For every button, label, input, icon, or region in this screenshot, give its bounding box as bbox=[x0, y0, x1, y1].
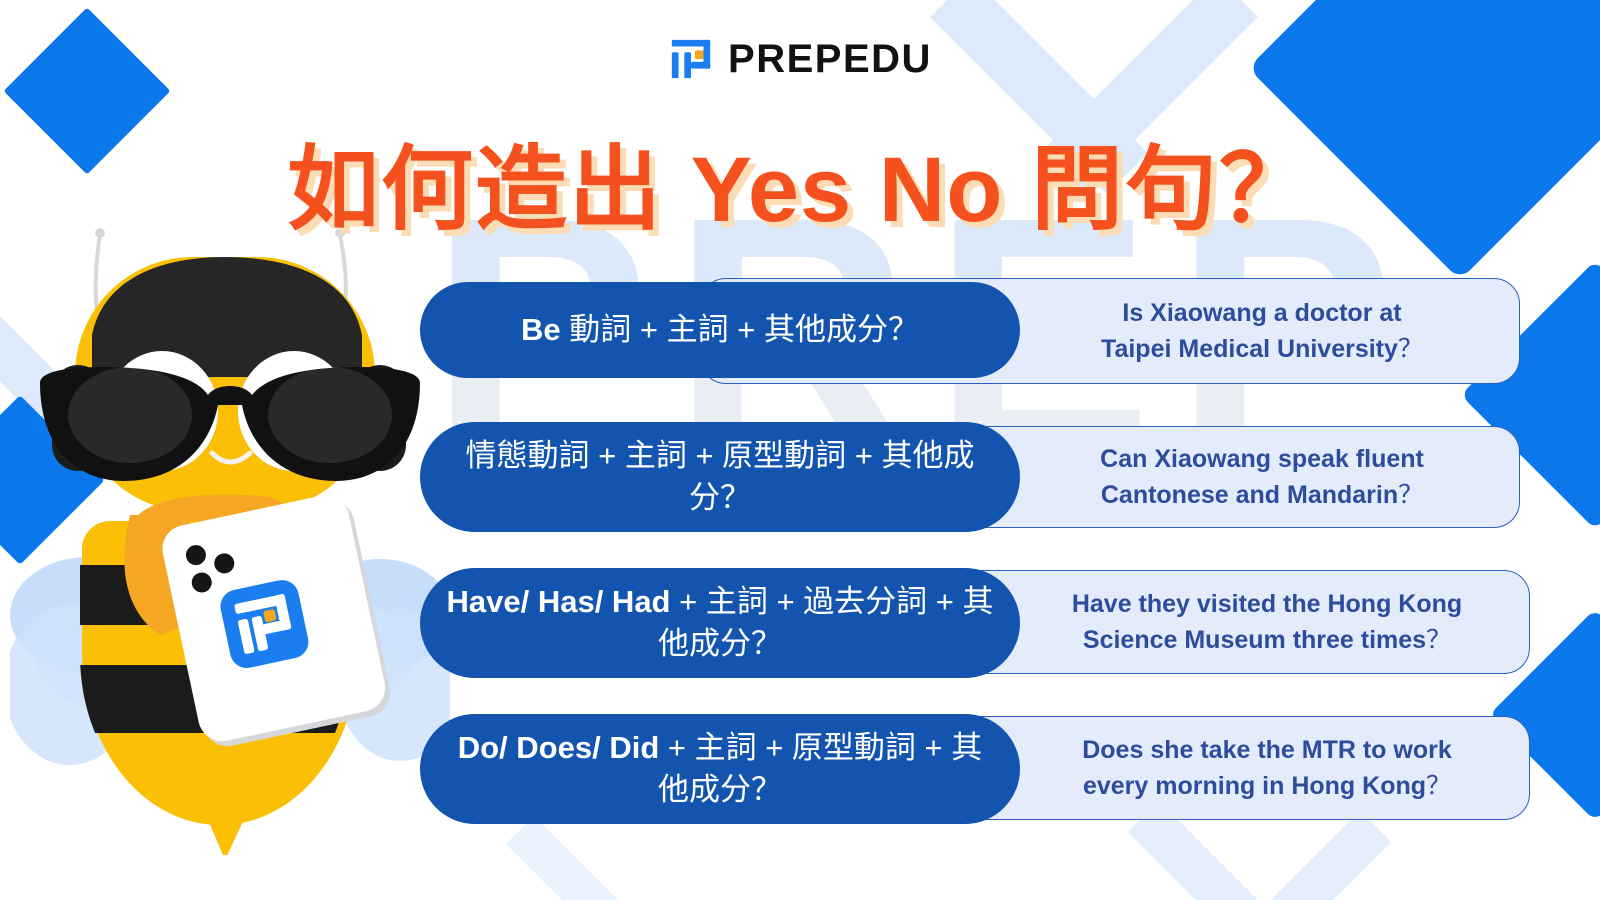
formula-text-1: Be 動詞 + 主詞 + 其他成分？ bbox=[446, 309, 994, 351]
structure-rows: Is Xiaowang a doctor at Taipei Medical U… bbox=[0, 270, 1600, 854]
answer-line-2a: Can Xiaowang speak fluent bbox=[1100, 445, 1424, 473]
answer-line-3b: Science Museum three times bbox=[1083, 626, 1426, 654]
row-do-does-did: Does she take the MTR to work every morn… bbox=[0, 708, 1600, 854]
prepedu-logo-icon bbox=[668, 36, 714, 82]
answer-line-2b: Cantonese and Mandarin bbox=[1101, 481, 1398, 509]
title-part-1: 如何造出 bbox=[287, 139, 691, 241]
brand-header: PREPEDU bbox=[0, 36, 1600, 82]
answer-question-mark-3: ？ bbox=[1426, 626, 1451, 654]
answer-question-mark-2: ？ bbox=[1398, 481, 1423, 509]
formula-keyword-1: Be bbox=[521, 312, 561, 347]
answer-text-1: Is Xiaowang a doctor at Taipei Medical U… bbox=[1031, 295, 1493, 368]
title-english: Yes No bbox=[691, 139, 1004, 241]
formula-rest-4: + 主詞 + 原型動詞 + 其他成分？ bbox=[658, 730, 982, 807]
answer-question-mark-1: ？ bbox=[1398, 335, 1423, 363]
formula-pill-2: 情態動詞 + 主詞 + 原型動詞 + 其他成分？ bbox=[420, 422, 1020, 532]
formula-rest-2: 情態動詞 + 主詞 + 原型動詞 + 其他成分？ bbox=[466, 438, 975, 515]
row-have-has-had: Have they visited the Hong Kong Science … bbox=[0, 562, 1600, 708]
answer-line-1b: Taipei Medical University bbox=[1101, 335, 1398, 363]
answer-line-4a: Does she take the MTR to work bbox=[1082, 736, 1452, 764]
formula-rest-1: 動詞 + 主詞 + 其他成分？ bbox=[561, 312, 919, 347]
answer-line-1a: Is Xiaowang a doctor at bbox=[1122, 299, 1401, 327]
brand-name: PREPEDU bbox=[728, 37, 932, 82]
answer-line-4b: every morning in Hong Kong bbox=[1083, 772, 1426, 800]
formula-keyword-4: Do/ Does/ Did bbox=[458, 730, 660, 765]
formula-pill-1: Be 動詞 + 主詞 + 其他成分？ bbox=[420, 282, 1020, 378]
formula-text-2: 情態動詞 + 主詞 + 原型動詞 + 其他成分？ bbox=[446, 435, 994, 519]
answer-line-3a: Have they visited the Hong Kong bbox=[1072, 590, 1462, 618]
title-part-2: 問句？ bbox=[1003, 139, 1313, 241]
page-title: 如何造出 Yes No 問句？ bbox=[0, 115, 1600, 248]
answer-text-2: Can Xiaowang speak fluent Cantonese and … bbox=[1031, 441, 1493, 514]
answer-text-3: Have they visited the Hong Kong Science … bbox=[1031, 586, 1503, 659]
row-be-verb: Is Xiaowang a doctor at Taipei Medical U… bbox=[0, 270, 1600, 416]
answer-question-mark-4: ？ bbox=[1426, 772, 1451, 800]
poster-canvas: PREP PREP PREPEDU 如何造出 Yes No 問句？ bbox=[0, 0, 1600, 900]
formula-pill-4: Do/ Does/ Did + 主詞 + 原型動詞 + 其他成分？ bbox=[420, 714, 1020, 824]
formula-text-3: Have/ Has/ Had + 主詞 + 過去分詞 + 其他成分？ bbox=[446, 581, 994, 665]
formula-rest-3: + 主詞 + 過去分詞 + 其他成分？ bbox=[658, 584, 994, 661]
row-modal-verb: Can Xiaowang speak fluent Cantonese and … bbox=[0, 416, 1600, 562]
answer-text-4: Does she take the MTR to work every morn… bbox=[1031, 732, 1503, 805]
formula-keyword-3: Have/ Has/ Had bbox=[447, 584, 671, 619]
formula-text-4: Do/ Does/ Did + 主詞 + 原型動詞 + 其他成分？ bbox=[446, 727, 994, 811]
formula-pill-3: Have/ Has/ Had + 主詞 + 過去分詞 + 其他成分？ bbox=[420, 568, 1020, 678]
